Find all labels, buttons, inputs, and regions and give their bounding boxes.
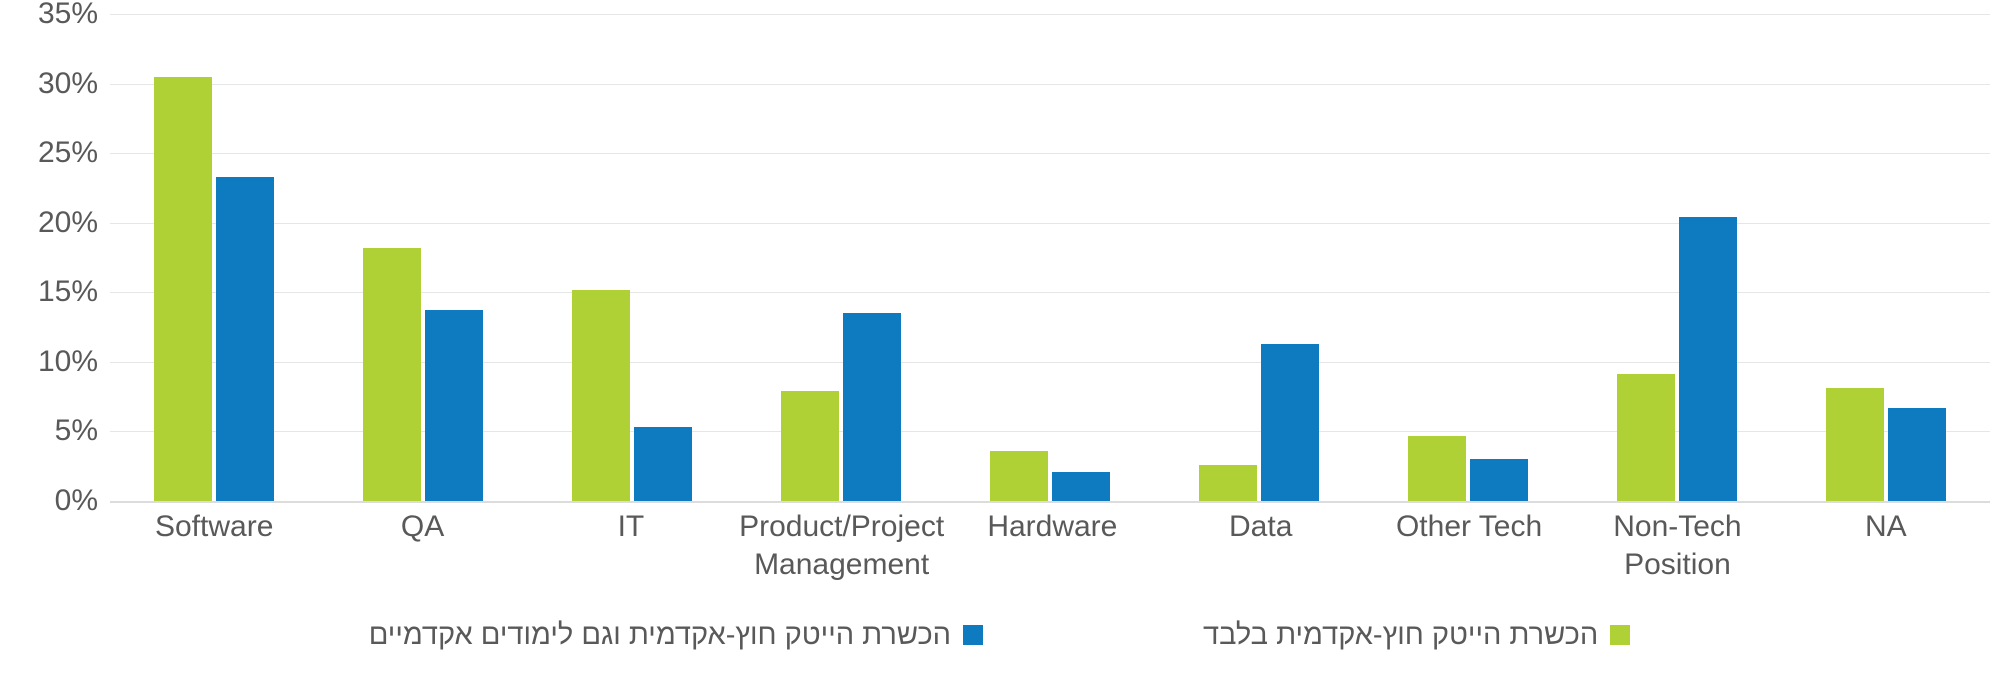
x-axis-category-labels: SoftwareQAITProduct/Project ManagementHa…: [110, 508, 1990, 578]
x-axis-category-label: IT: [527, 508, 735, 578]
x-axis-category-label: NA: [1782, 508, 1990, 578]
bar-blue[interactable]: [1679, 217, 1737, 501]
y-axis-tick-label: 35%: [8, 0, 98, 31]
y-axis-tick-label: 30%: [8, 67, 98, 101]
legend-item[interactable]: הכשרת הייטק חוץ-אקדמית בלבד: [1203, 618, 1630, 652]
legend-swatch-blue-icon: [963, 625, 983, 645]
legend-label: הכשרת הייטק חוץ-אקדמית וגם לימודים אקדמי…: [369, 618, 951, 652]
y-axis-tick-label: 0%: [8, 484, 98, 518]
x-axis-category-label: QA: [318, 508, 526, 578]
y-axis-tick-label: 20%: [8, 206, 98, 240]
x-axis-category-label: Data: [1157, 508, 1365, 578]
bar-groups: [110, 14, 1990, 501]
y-axis-tick-label: 15%: [8, 275, 98, 309]
bar-green[interactable]: [1408, 436, 1466, 501]
bar-group: [110, 14, 319, 501]
chart-legend: הכשרת הייטק חוץ-אקדמית בלבדהכשרת הייטק ח…: [0, 618, 1999, 652]
legend-item[interactable]: הכשרת הייטק חוץ-אקדמית וגם לימודים אקדמי…: [369, 618, 983, 652]
bar-group: [1781, 14, 1990, 501]
x-axis-category-label: Hardware: [948, 508, 1156, 578]
legend-label: הכשרת הייטק חוץ-אקדמית בלבד: [1203, 618, 1598, 652]
bar-group: [528, 14, 737, 501]
bar-green[interactable]: [154, 77, 212, 501]
bar-group: [946, 14, 1155, 501]
bar-blue[interactable]: [1261, 344, 1319, 501]
bar-green[interactable]: [363, 248, 421, 501]
bar-blue[interactable]: [1052, 472, 1110, 501]
bar-group: [1154, 14, 1363, 501]
bar-blue[interactable]: [1470, 459, 1528, 501]
bar-blue[interactable]: [843, 313, 901, 501]
y-axis-tick-label: 5%: [8, 414, 98, 448]
bar-blue[interactable]: [425, 310, 483, 501]
bar-green[interactable]: [1826, 388, 1884, 501]
bar-blue[interactable]: [1888, 408, 1946, 501]
bar-group: [1363, 14, 1572, 501]
legend-swatch-green-icon: [1610, 625, 1630, 645]
gridline-0: [110, 501, 1990, 503]
x-axis-category-label: Other Tech: [1365, 508, 1573, 578]
x-axis-category-label: Non-Tech Position: [1573, 508, 1781, 578]
bar-green[interactable]: [990, 451, 1048, 501]
bar-green[interactable]: [1617, 374, 1675, 501]
bar-group: [737, 14, 946, 501]
plot-area: [110, 14, 1990, 501]
bar-blue[interactable]: [634, 427, 692, 501]
bar-blue[interactable]: [216, 177, 274, 501]
y-axis-tick-label: 10%: [8, 345, 98, 379]
bar-green[interactable]: [572, 290, 630, 501]
bar-group: [319, 14, 528, 501]
bar-green[interactable]: [1199, 465, 1257, 501]
bar-chart: 0%5%10%15%20%25%30%35% SoftwareQAITProdu…: [0, 0, 1999, 695]
y-axis-tick-label: 25%: [8, 136, 98, 170]
bar-green[interactable]: [781, 391, 839, 501]
bar-group: [1572, 14, 1781, 501]
x-axis-category-label: Product/Project Management: [735, 508, 948, 578]
x-axis-category-label: Software: [110, 508, 318, 578]
